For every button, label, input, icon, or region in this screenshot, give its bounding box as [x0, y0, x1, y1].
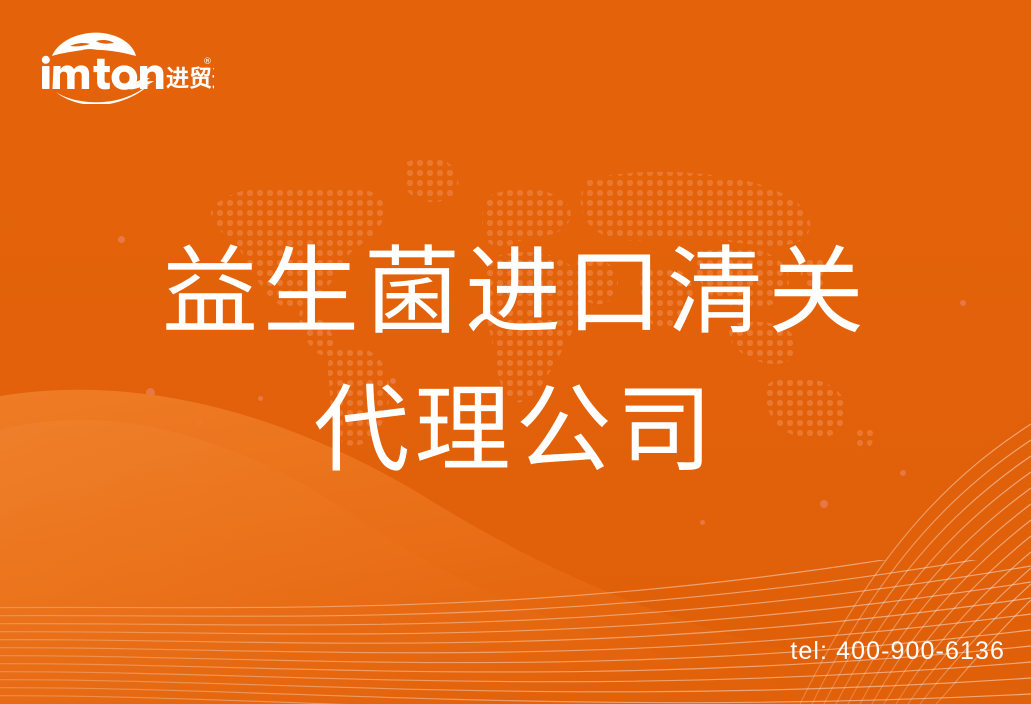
promo-banner: 进贸通 ® 益生菌进口清关 代理公司 tel: 400-900-6136: [0, 0, 1031, 704]
contact-phone[interactable]: tel: 400-900-6136: [790, 637, 1005, 666]
brand-logo[interactable]: 进贸通 ®: [38, 26, 214, 104]
wordmark-chinese: 进贸通 ®: [166, 57, 214, 92]
globe-arc-icon: [52, 33, 136, 56]
page-title: 益生菌进口清关 代理公司: [0, 224, 1031, 500]
headline-line-2: 代理公司: [0, 362, 1031, 500]
trademark-icon: ®: [203, 57, 212, 67]
logo-chinese-text: 进贸通: [166, 66, 214, 92]
headline-line-1: 益生菌进口清关: [0, 224, 1031, 362]
